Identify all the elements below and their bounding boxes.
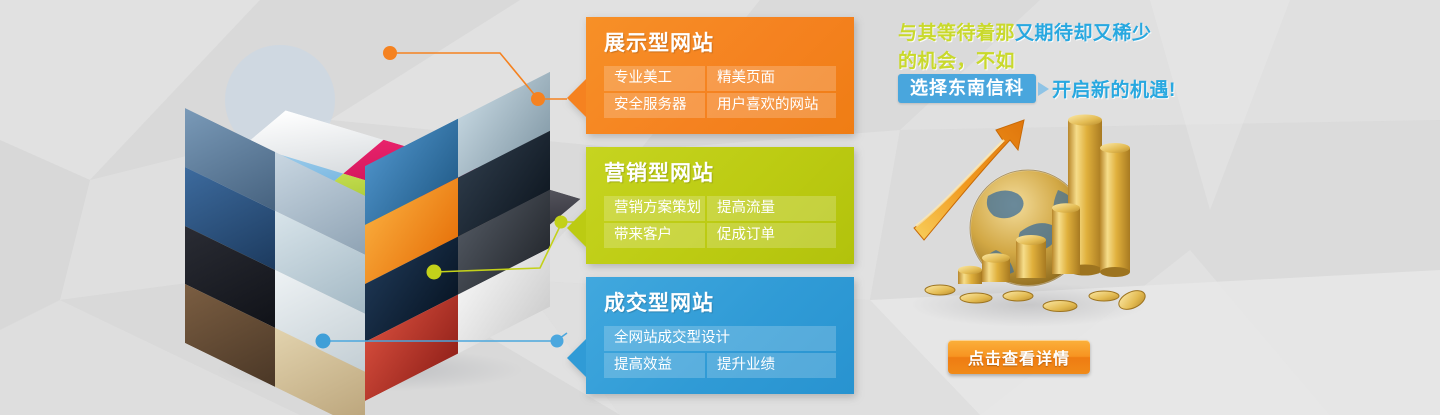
connector-blue-dot-end — [551, 335, 564, 348]
connector-green-dot-end — [555, 216, 568, 229]
chip[interactable]: 促成订单 — [707, 223, 836, 248]
chip[interactable]: 带来客户 — [604, 223, 705, 248]
card-pointer-icon — [567, 339, 586, 377]
chip[interactable]: 精美页面 — [707, 66, 836, 91]
chip[interactable]: 安全服务器 — [604, 93, 705, 118]
card-chip-grid: 营销方案策划 提高流量 带来客户 促成订单 — [604, 196, 836, 248]
card-deal-website[interactable]: 成交型网站 全网站成交型设计 提高效益 提升业绩 — [586, 277, 854, 394]
chip[interactable]: 提高流量 — [707, 196, 836, 221]
connector-orange-dot-end — [531, 92, 545, 106]
globe-with-gold-coins — [900, 100, 1150, 330]
card-display-website[interactable]: 展示型网站 专业美工 精美页面 安全服务器 用户喜欢的网站 — [586, 17, 854, 134]
coin-stack — [958, 266, 982, 284]
brand-tag-row: 选择东南信科 开启新的机遇! — [898, 74, 1176, 103]
card-chip-grid: 全网站成交型设计 提高效益 提升业绩 — [604, 326, 836, 378]
chip[interactable]: 营销方案策划 — [604, 196, 705, 221]
connector-blue-line — [323, 333, 567, 341]
chip[interactable]: 专业美工 — [604, 66, 705, 91]
headline-tail: 开启新的机遇! — [1052, 75, 1176, 102]
headline-line1-blue: 又期待却又稀少 — [1015, 23, 1152, 44]
headline: 与其等待着那又期待却又稀少 的机会，不如 — [898, 20, 1178, 76]
chip[interactable]: 提高效益 — [604, 353, 705, 378]
connector-orange-dot-start — [383, 46, 397, 60]
coin — [960, 293, 992, 303]
chip[interactable]: 全网站成交型设计 — [604, 326, 836, 351]
coin-stack — [1016, 235, 1046, 278]
coin — [925, 285, 955, 295]
chip[interactable]: 用户喜欢的网站 — [707, 93, 836, 118]
card-title: 营销型网站 — [604, 159, 836, 189]
coin-stack — [982, 253, 1010, 282]
card-body: 展示型网站 专业美工 精美页面 安全服务器 用户喜欢的网站 — [586, 17, 854, 134]
connector-green-line — [434, 222, 584, 272]
arrow-right-icon — [1038, 82, 1049, 96]
card-title: 成交型网站 — [604, 289, 836, 319]
card-pointer-icon — [567, 209, 586, 247]
connector-orange-line — [390, 53, 567, 99]
connector-blue-dot-start — [316, 334, 331, 349]
headline-line1-green: 与其等待着那 — [898, 23, 1015, 44]
connector-green-dot-start — [427, 265, 442, 280]
chip[interactable]: 提升业绩 — [707, 353, 836, 378]
promo-banner: 展示型网站 专业美工 精美页面 安全服务器 用户喜欢的网站 营销型网站 营销方案… — [0, 0, 1440, 415]
card-pointer-icon — [567, 79, 586, 117]
coin — [1043, 301, 1077, 312]
coin-stack — [1100, 143, 1130, 277]
card-title: 展示型网站 — [604, 29, 836, 59]
brand-tag[interactable]: 选择东南信科 — [898, 74, 1036, 103]
coin-stack — [1052, 203, 1080, 274]
view-details-button[interactable]: 点击查看详情 — [948, 340, 1090, 374]
card-body: 营销型网站 营销方案策划 提高流量 带来客户 促成订单 — [586, 147, 854, 264]
coin — [1003, 291, 1033, 301]
card-chip-grid: 专业美工 精美页面 安全服务器 用户喜欢的网站 — [604, 66, 836, 118]
coin — [1089, 291, 1119, 301]
card-body: 成交型网站 全网站成交型设计 提高效益 提升业绩 — [586, 277, 854, 394]
headline-line2-green: 的机会，不如 — [898, 51, 1015, 72]
card-marketing-website[interactable]: 营销型网站 营销方案策划 提高流量 带来客户 促成订单 — [586, 147, 854, 264]
